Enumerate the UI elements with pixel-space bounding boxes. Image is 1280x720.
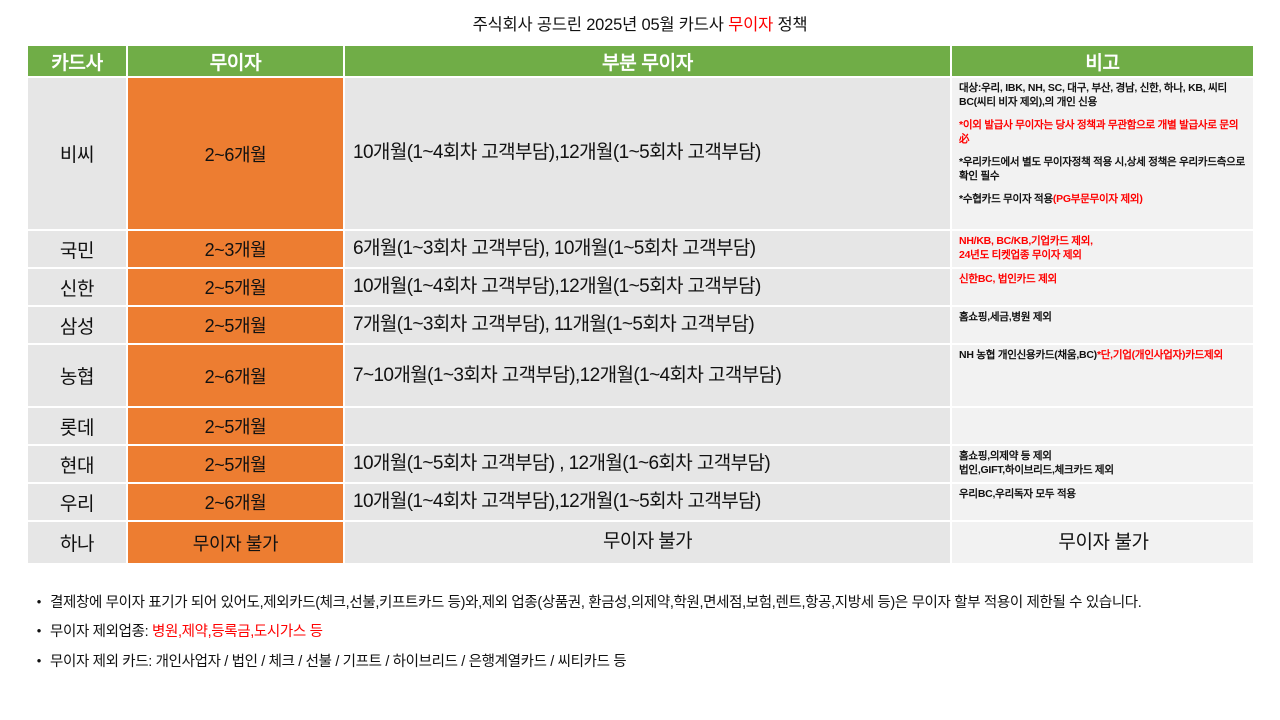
bullet-icon: • [28, 592, 50, 612]
cell-partial-interest-free: 7~10개월(1~3회차 고객부담),12개월(1~4회차 고객부담) [345, 345, 952, 408]
cell-note: 무이자 불가 [952, 522, 1253, 565]
cell-interest-free: 2~6개월 [128, 78, 345, 231]
slide-root: 주식회사 공드린 2025년 05월 카드사 무이자 정책 카드사 무이자 부분… [0, 0, 1280, 720]
cell-partial-interest-free: 무이자 불가 [345, 522, 952, 565]
column-header-issuer: 카드사 [28, 46, 128, 78]
cell-issuer: 국민 [28, 231, 128, 269]
table-row: 국민2~3개월6개월(1~3회차 고객부담), 10개월(1~5회차 고객부담)… [28, 231, 1253, 269]
page-title-prefix: 주식회사 공드린 2025년 05월 카드사 [473, 16, 729, 34]
table-row: 비씨2~6개월10개월(1~4회차 고객부담),12개월(1~5회차 고객부담)… [28, 78, 1253, 231]
cell-issuer: 신한 [28, 269, 128, 307]
cell-issuer: 농협 [28, 345, 128, 408]
cell-issuer: 삼성 [28, 307, 128, 345]
cell-partial-interest-free: 10개월(1~4회차 고객부담),12개월(1~5회차 고객부담) [345, 78, 952, 231]
note-line: *이외 발급사 무이자는 당사 정책과 무관함으로 개별 발급사로 문의 必 [959, 119, 1248, 147]
column-header-partial-interest-free: 부분 무이자 [345, 46, 952, 78]
cell-note: 신한BC, 법인카드 제외 [952, 269, 1253, 307]
table-row: 하나무이자 불가무이자 불가무이자 불가 [28, 522, 1253, 565]
note-line: NH 농협 개인신용카드(채움,BC)*단,기업(개인사업자)카드제외 [959, 349, 1248, 363]
note-line: 우리BC,우리독자 모두 적용 [959, 488, 1248, 502]
table-row: 농협2~6개월7~10개월(1~3회차 고객부담),12개월(1~4회차 고객부… [28, 345, 1253, 408]
cell-partial-interest-free: 10개월(1~5회차 고객부담) , 12개월(1~6회차 고객부담) [345, 446, 952, 484]
page-title-suffix: 정책 [773, 16, 807, 34]
cell-issuer: 하나 [28, 522, 128, 565]
cell-issuer: 롯데 [28, 408, 128, 446]
cell-interest-free: 2~5개월 [128, 446, 345, 484]
table-body: 비씨2~6개월10개월(1~4회차 고객부담),12개월(1~5회차 고객부담)… [28, 78, 1253, 565]
cell-note: 홈쇼핑,의제약 등 제외법인,GIFT,하이브리드,체크카드 제외 [952, 446, 1253, 484]
table-row: 롯데2~5개월 [28, 408, 1253, 446]
cell-partial-interest-free: 10개월(1~4회차 고객부담),12개월(1~5회차 고객부담) [345, 484, 952, 522]
note-line: 홈쇼핑,의제약 등 제외법인,GIFT,하이브리드,체크카드 제외 [959, 450, 1248, 478]
bullet-icon: • [28, 621, 50, 641]
page-title-highlight: 무이자 [728, 16, 773, 34]
card-policy-table: 카드사 무이자 부분 무이자 비고 비씨2~6개월10개월(1~4회차 고객부담… [28, 46, 1253, 565]
note-line: 홈쇼핑,세금,병원 제외 [959, 311, 1248, 325]
cell-partial-interest-free: 7개월(1~3회차 고객부담), 11개월(1~5회차 고객부담) [345, 307, 952, 345]
table-row: 현대2~5개월10개월(1~5회차 고객부담) , 12개월(1~6회차 고객부… [28, 446, 1253, 484]
cell-note: 홈쇼핑,세금,병원 제외 [952, 307, 1253, 345]
cell-partial-interest-free: 10개월(1~4회차 고객부담),12개월(1~5회차 고객부담) [345, 269, 952, 307]
column-header-note: 비고 [952, 46, 1253, 78]
cell-interest-free: 2~5개월 [128, 269, 345, 307]
cell-interest-free: 2~5개월 [128, 408, 345, 446]
cell-issuer: 우리 [28, 484, 128, 522]
cell-partial-interest-free: 6개월(1~3회차 고객부담), 10개월(1~5회차 고객부담) [345, 231, 952, 269]
footnotes: •결제창에 무이자 표기가 되어 있어도,제외카드(체크,선불,키프트카드 등)… [28, 592, 1253, 680]
bullet-icon: • [28, 651, 50, 671]
page-title: 주식회사 공드린 2025년 05월 카드사 무이자 정책 [0, 11, 1280, 35]
footnote-item: •무이자 제외업종: 병원,제약,등록금,도시가스 등 [28, 621, 1253, 643]
note-line: 대상:우리, IBK, NH, SC, 대구, 부산, 경남, 신한, 하나, … [959, 82, 1248, 110]
table-row: 우리2~6개월10개월(1~4회차 고객부담),12개월(1~5회차 고객부담)… [28, 484, 1253, 522]
cell-note [952, 408, 1253, 446]
footnote-item: •결제창에 무이자 표기가 되어 있어도,제외카드(체크,선불,키프트카드 등)… [28, 592, 1253, 614]
cell-interest-free: 2~5개월 [128, 307, 345, 345]
cell-issuer: 비씨 [28, 78, 128, 231]
footnote-item: •무이자 제외 카드: 개인사업자 / 법인 / 체크 / 선불 / 기프트 /… [28, 651, 1253, 673]
column-header-interest-free: 무이자 [128, 46, 345, 78]
cell-note: NH 농협 개인신용카드(채움,BC)*단,기업(개인사업자)카드제외 [952, 345, 1253, 408]
table-header-row: 카드사 무이자 부분 무이자 비고 [28, 46, 1253, 78]
footnote-text: 결제창에 무이자 표기가 되어 있어도,제외카드(체크,선불,키프트카드 등)와… [50, 592, 1141, 614]
note-line: *우리카드에서 별도 무이자정책 적용 시,상세 정책은 우리카드측으로 확인 … [959, 156, 1248, 184]
cell-note: NH/KB, BC/KB,기업카드 제외,24년도 티켓업종 무이자 제외 [952, 231, 1253, 269]
cell-note: 우리BC,우리독자 모두 적용 [952, 484, 1253, 522]
note-line: NH/KB, BC/KB,기업카드 제외,24년도 티켓업종 무이자 제외 [959, 235, 1248, 263]
cell-issuer: 현대 [28, 446, 128, 484]
cell-note: 대상:우리, IBK, NH, SC, 대구, 부산, 경남, 신한, 하나, … [952, 78, 1253, 231]
cell-interest-free: 2~6개월 [128, 484, 345, 522]
table-header: 카드사 무이자 부분 무이자 비고 [28, 46, 1253, 78]
note-line: 신한BC, 법인카드 제외 [959, 273, 1248, 287]
footnote-text: 무이자 제외업종: 병원,제약,등록금,도시가스 등 [50, 621, 323, 643]
cell-interest-free: 무이자 불가 [128, 522, 345, 565]
cell-interest-free: 2~6개월 [128, 345, 345, 408]
note-line: *수협카드 무이자 적용(PG부문무이자 제외) [959, 193, 1248, 207]
table-row: 신한2~5개월10개월(1~4회차 고객부담),12개월(1~5회차 고객부담)… [28, 269, 1253, 307]
cell-interest-free: 2~3개월 [128, 231, 345, 269]
footnote-text: 무이자 제외 카드: 개인사업자 / 법인 / 체크 / 선불 / 기프트 / … [50, 651, 626, 673]
cell-partial-interest-free [345, 408, 952, 446]
table-row: 삼성2~5개월7개월(1~3회차 고객부담), 11개월(1~5회차 고객부담)… [28, 307, 1253, 345]
